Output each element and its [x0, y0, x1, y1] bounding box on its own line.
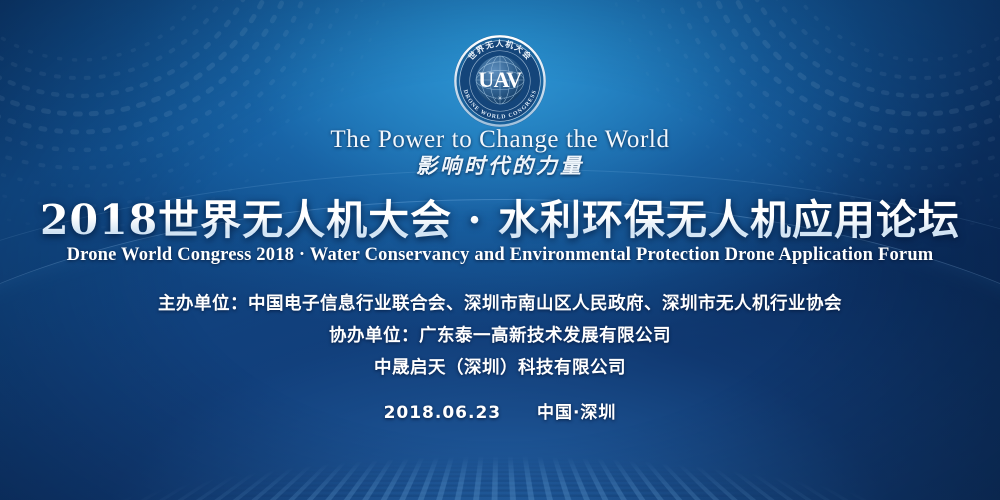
coorganizer-line-2: 中晟启天（深圳）科技有限公司	[0, 354, 1000, 379]
page-subtitle-english: Drone World Congress 2018 · Water Conser…	[0, 245, 1000, 266]
page-title: 2018世界无人机大会 · 水利环保无人机应用论坛	[0, 186, 1000, 246]
host-organizations: 主办单位：中国电子信息行业联合会、深圳市南山区人民政府、深圳市无人机行业协会	[0, 290, 1000, 315]
svg-text:UAV: UAV	[478, 67, 522, 92]
uav-emblem-icon: 世界无人机大会 DRONE WORLD CONGRESS UAV · ✕ ·	[452, 33, 548, 129]
conference-poster: 世界无人机大会 DRONE WORLD CONGRESS UAV · ✕ · T…	[0, 0, 1000, 500]
event-date: 2018.06.23	[384, 403, 502, 423]
congress-logo: 世界无人机大会 DRONE WORLD CONGRESS UAV · ✕ ·	[452, 33, 548, 129]
tagline-chinese-calligraphy: 影响时代的力量	[0, 150, 1000, 180]
bottom-dash-grid	[0, 443, 1000, 500]
event-location: 中国·深圳	[537, 403, 616, 423]
coorganizer-line-1: 协办单位：广东泰一高新技术发展有限公司	[0, 322, 1000, 347]
event-datetime-location: 2018.06.23 中国·深圳	[0, 398, 1000, 423]
svg-text:· ✕ ·: · ✕ ·	[494, 96, 505, 102]
